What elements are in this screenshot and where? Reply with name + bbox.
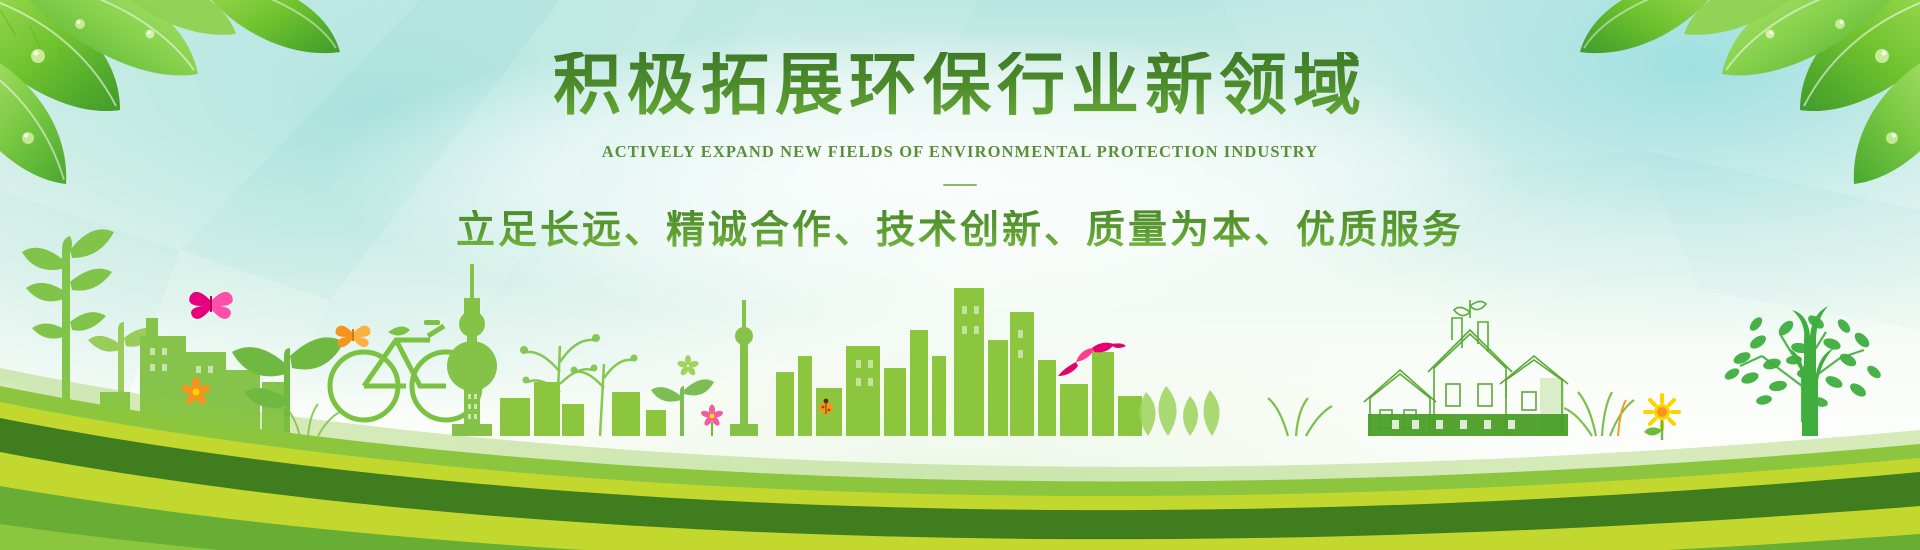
slogan-text: 立足长远、精诚合作、技术创新、质量为本、优质服务 <box>0 210 1920 253</box>
eco-banner: 积极拓展环保行业新领域 ACTIVELY EXPAND NEW FIELDS O… <box>0 0 1920 550</box>
page-title: 积极拓展环保行业新领域 <box>0 52 1920 126</box>
banner-text-block: 积极拓展环保行业新领域 ACTIVELY EXPAND NEW FIELDS O… <box>0 52 1920 253</box>
divider-rule <box>943 184 977 186</box>
subtitle-english: ACTIVELY EXPAND NEW FIELDS OF ENVIRONMEN… <box>0 142 1920 162</box>
